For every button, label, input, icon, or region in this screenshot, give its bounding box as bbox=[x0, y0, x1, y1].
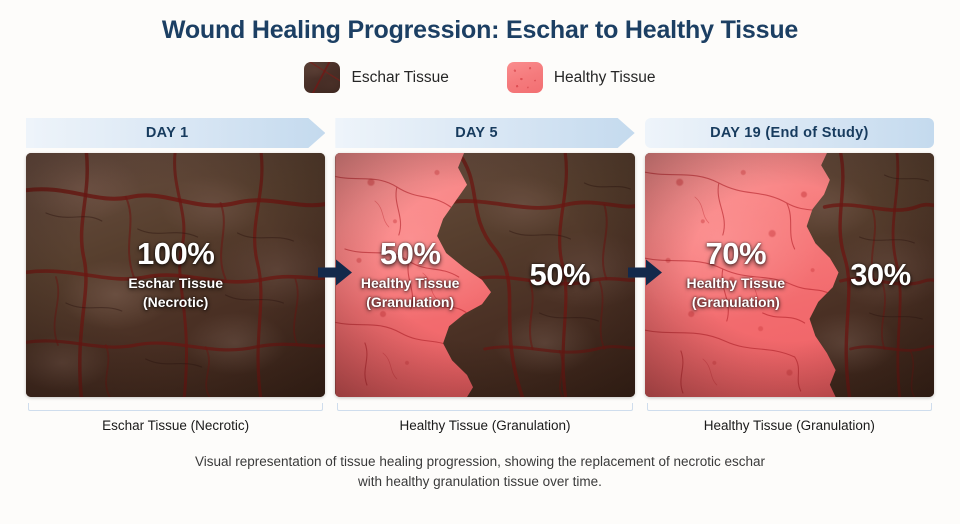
legend-item-healthy: Healthy Tissue bbox=[507, 62, 656, 93]
label-eschar-30: 30% bbox=[827, 259, 934, 292]
percent-value: 70% bbox=[645, 238, 827, 271]
stage-header-day1: DAY 1 bbox=[26, 118, 325, 148]
percent-value: 50% bbox=[485, 259, 635, 292]
legend: Eschar Tissue Healthy Tissue bbox=[0, 62, 960, 93]
percent-value: 100% bbox=[26, 238, 325, 271]
stage-header-day19-label: DAY 19 (End of Study) bbox=[710, 125, 869, 141]
legend-label-healthy: Healthy Tissue bbox=[554, 69, 656, 87]
wound-panel-day5: 50% Healthy Tissue (Granulation) 50% bbox=[335, 153, 634, 397]
label-line-1: Eschar Tissue bbox=[26, 274, 325, 293]
progression-arrow-1-icon bbox=[318, 258, 352, 293]
footnote: Visual representation of tissue healing … bbox=[0, 452, 960, 493]
label-line-2: (Necrotic) bbox=[26, 293, 325, 312]
caption-text-day19: Healthy Tissue (Granulation) bbox=[645, 418, 934, 433]
panel-labels-day1: 100% Eschar Tissue (Necrotic) bbox=[26, 153, 325, 397]
label-eschar-100: 100% Eschar Tissue (Necrotic) bbox=[26, 238, 325, 311]
legend-label-eschar: Eschar Tissue bbox=[351, 69, 448, 87]
percent-value: 30% bbox=[827, 259, 934, 292]
wound-panel-day19: 70% Healthy Tissue (Granulation) 30% bbox=[645, 153, 934, 397]
panel-labels-day19: 70% Healthy Tissue (Granulation) 30% bbox=[645, 153, 934, 397]
healthy-swatch-icon bbox=[507, 62, 543, 93]
stage-header-day5-label: DAY 5 bbox=[455, 125, 498, 141]
caption-col-day19: Healthy Tissue (Granulation) bbox=[645, 403, 934, 433]
label-healthy-70: 70% Healthy Tissue (Granulation) bbox=[645, 238, 827, 311]
percent-value: 50% bbox=[335, 238, 485, 271]
label-line-2: (Granulation) bbox=[335, 293, 485, 312]
stage-headers: DAY 1 DAY 5 DAY 19 (End of Study) bbox=[0, 118, 960, 148]
footnote-line-1: Visual representation of tissue healing … bbox=[0, 452, 960, 472]
stage-panels: 100% Eschar Tissue (Necrotic) bbox=[0, 153, 960, 397]
stage-header-day5: DAY 5 bbox=[335, 118, 634, 148]
caption-bracket bbox=[28, 403, 323, 411]
stage-header-day19: DAY 19 (End of Study) bbox=[645, 118, 934, 148]
progression-strip: DAY 1 DAY 5 DAY 19 (End of Study) bbox=[0, 118, 960, 433]
legend-item-eschar: Eschar Tissue bbox=[304, 62, 448, 93]
caption-bracket bbox=[647, 403, 932, 411]
caption-col-day5: Healthy Tissue (Granulation) bbox=[335, 403, 634, 433]
footnote-line-2: with healthy granulation tissue over tim… bbox=[0, 472, 960, 492]
caption-text-day5: Healthy Tissue (Granulation) bbox=[335, 418, 634, 433]
label-line-1: Healthy Tissue bbox=[335, 274, 485, 293]
panel-labels-day5: 50% Healthy Tissue (Granulation) 50% bbox=[335, 153, 634, 397]
label-line-2: (Granulation) bbox=[645, 293, 827, 312]
caption-text-day1: Eschar Tissue (Necrotic) bbox=[26, 418, 325, 433]
eschar-swatch-icon bbox=[304, 62, 340, 93]
label-line-1: Healthy Tissue bbox=[645, 274, 827, 293]
page-title: Wound Healing Progression: Eschar to Hea… bbox=[0, 0, 960, 45]
label-healthy-50: 50% Healthy Tissue (Granulation) bbox=[335, 238, 485, 311]
label-eschar-50: 50% bbox=[485, 259, 635, 292]
caption-col-day1: Eschar Tissue (Necrotic) bbox=[26, 403, 325, 433]
stage-header-day1-label: DAY 1 bbox=[146, 125, 189, 141]
progression-arrow-2-icon bbox=[628, 258, 662, 293]
wound-panel-day1: 100% Eschar Tissue (Necrotic) bbox=[26, 153, 325, 397]
caption-bracket bbox=[337, 403, 632, 411]
stage-captions: Eschar Tissue (Necrotic) Healthy Tissue … bbox=[0, 403, 960, 433]
